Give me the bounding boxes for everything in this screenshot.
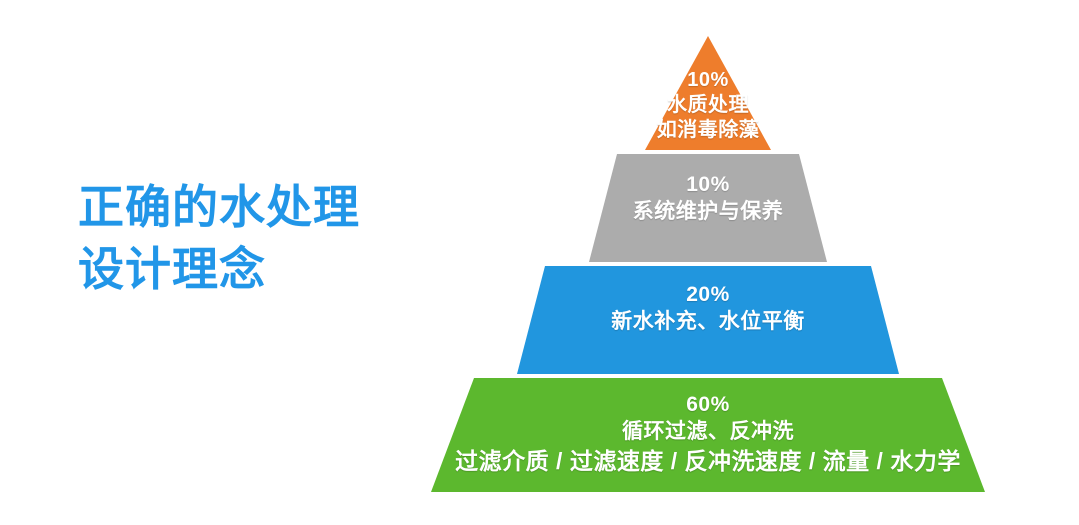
slide-canvas: 正确的水处理 设计理念 10% 水质处理 如消毒除藻 10% 系统维护与保养 2… (0, 0, 1079, 525)
pyramid-diagram (0, 0, 1079, 525)
pyramid-tier-1-shape[interactable] (645, 36, 771, 150)
pyramid-tier-3-shape[interactable] (517, 266, 899, 374)
pyramid-tier-4-shape[interactable] (431, 378, 985, 492)
pyramid-svg (0, 0, 1079, 525)
pyramid-tier-2-shape[interactable] (589, 154, 827, 262)
